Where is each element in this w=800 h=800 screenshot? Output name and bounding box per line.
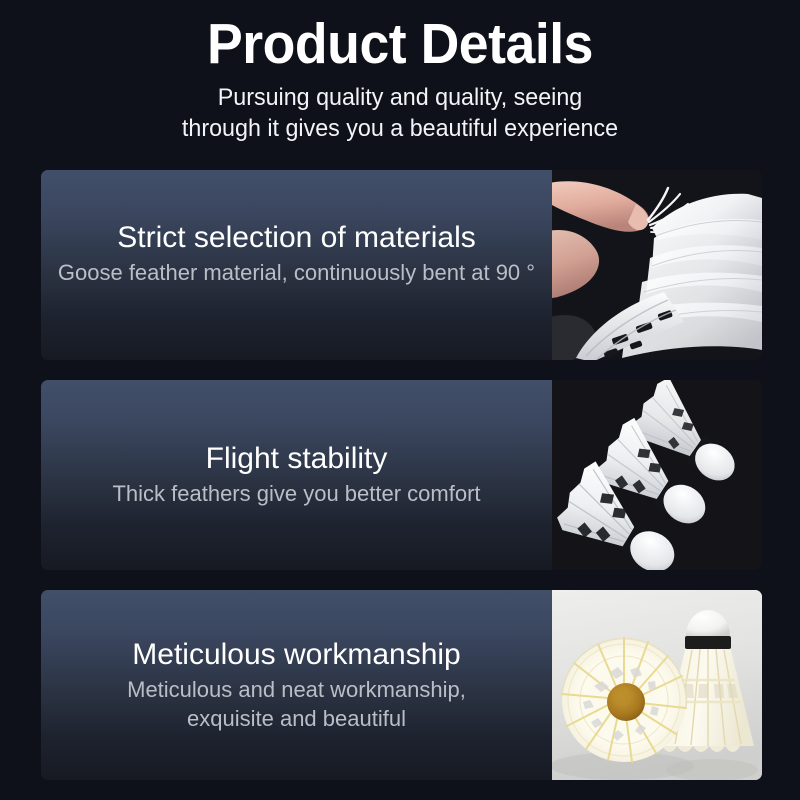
feature-card-description-line: Meticulous and neat workmanship, [127, 676, 466, 705]
feature-card-text-workmanship: Meticulous workmanship Meticulous and ne… [41, 590, 552, 780]
shuttlecock-crown-and-upright-illustration [552, 590, 762, 780]
product-details-page: Product Details Pursuing quality and qua… [0, 0, 800, 800]
three-shuttlecocks-illustration [552, 380, 762, 570]
feature-card-list: Strict selection of materials Goose feat… [41, 170, 762, 800]
feature-card-title: Flight stability [206, 441, 388, 476]
page-title: Product Details [24, 14, 776, 74]
feature-card-workmanship[interactable]: Meticulous workmanship Meticulous and ne… [41, 590, 762, 780]
feature-card-materials[interactable]: Strict selection of materials Goose feat… [41, 170, 762, 360]
feature-card-description-line: Goose feather material, continuously ben… [58, 259, 535, 288]
feature-card-description: Meticulous and neat workmanship, exquisi… [127, 676, 466, 733]
page-subtitle-line-2: through it gives you a beautiful experie… [12, 114, 788, 145]
feature-card-text-materials: Strict selection of materials Goose feat… [41, 170, 552, 360]
feature-card-title: Strict selection of materials [117, 220, 475, 255]
page-subtitle-line-1: Pursuing quality and quality, seeing [12, 83, 788, 114]
feature-card-description: Goose feather material, continuously ben… [58, 259, 535, 288]
feature-card-description-line: Thick feathers give you better comfort [112, 480, 480, 509]
page-subtitle: Pursuing quality and quality, seeing thr… [12, 83, 788, 144]
page-header: Product Details Pursuing quality and qua… [0, 0, 800, 145]
feature-card-title: Meticulous workmanship [132, 637, 460, 672]
feature-card-description-line: exquisite and beautiful [127, 705, 466, 734]
feature-card-image-workmanship [552, 590, 762, 780]
feature-card-image-materials [552, 170, 762, 360]
feature-card-text-flight-stability: Flight stability Thick feathers give you… [41, 380, 552, 570]
feature-card-image-flight-stability [552, 380, 762, 570]
feature-card-description: Thick feathers give you better comfort [112, 480, 480, 509]
feature-card-flight-stability[interactable]: Flight stability Thick feathers give you… [41, 380, 762, 570]
hand-bending-feathers-illustration [552, 170, 762, 360]
